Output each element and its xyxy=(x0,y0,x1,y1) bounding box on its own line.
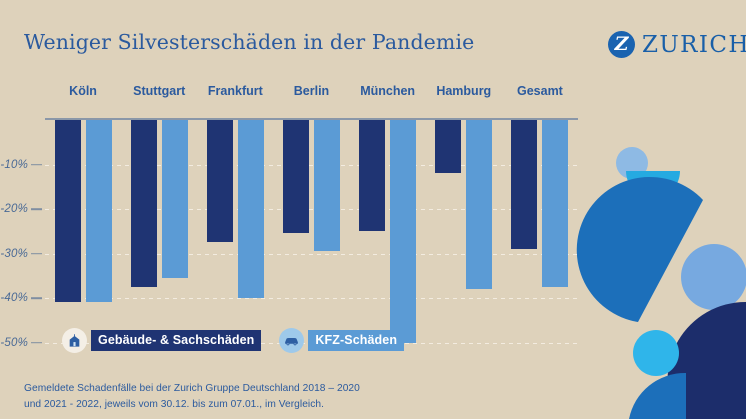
page-title: Weniger Silvesterschäden in der Pandemie xyxy=(24,30,474,54)
bar-köln-gebaeude xyxy=(55,120,81,302)
bar-berlin-gebaeude xyxy=(283,120,309,233)
gridline xyxy=(45,209,578,210)
chart-legend: Gebäude- & Sachschäden KFZ-Schäden xyxy=(62,328,404,353)
y-tick-dash xyxy=(31,164,42,166)
category-label-stuttgart: Stuttgart xyxy=(121,84,197,98)
footnote-line-1: Gemeldete Schadenfälle bei der Zurich Gr… xyxy=(24,381,494,397)
bar-chart: KölnStuttgartFrankfurtBerlinMünchenHambu… xyxy=(0,84,600,354)
bar-hamburg-gebaeude xyxy=(435,120,461,173)
category-label-hamburg: Hamburg xyxy=(426,84,502,98)
gridline xyxy=(45,165,578,166)
bar-stuttgart-gebaeude xyxy=(131,120,157,287)
zurich-z-letter: Z xyxy=(608,31,635,58)
legend-label-gebaeude: Gebäude- & Sachschäden xyxy=(91,330,261,351)
zero-axis-line xyxy=(45,118,578,120)
y-axis-tick-label: -10% xyxy=(0,159,28,171)
legend-item-gebaeude: Gebäude- & Sachschäden xyxy=(62,328,261,353)
bar-stuttgart-kfz xyxy=(162,120,188,278)
deco-quarterdisc-blue xyxy=(629,373,686,419)
category-label-münchen: München xyxy=(350,84,426,98)
bar-münchen-kfz xyxy=(390,120,416,343)
y-axis-tick-label: -40% xyxy=(0,292,28,304)
bar-münchen-gebaeude xyxy=(359,120,385,231)
footnote-line-2: und 2021 - 2022, jeweils vom 30.12. bis … xyxy=(24,397,494,413)
y-axis-tick-label: -20% xyxy=(0,203,28,215)
bar-hamburg-kfz xyxy=(466,120,492,289)
zurich-logo: Z ZURICH® xyxy=(608,31,746,58)
zurich-z-mark-icon: Z xyxy=(608,31,635,58)
gridline xyxy=(45,254,578,255)
bar-gesamt-kfz xyxy=(542,120,568,287)
category-label-gesamt: Gesamt xyxy=(502,84,578,98)
y-tick-dash xyxy=(31,253,42,255)
bar-frankfurt-gebaeude xyxy=(207,120,233,242)
y-tick-dash xyxy=(31,208,42,210)
y-tick-dash xyxy=(31,297,42,299)
deco-halfdisc-cyan xyxy=(626,171,680,198)
category-label-berlin: Berlin xyxy=(273,84,349,98)
gridline xyxy=(45,298,578,299)
house-icon xyxy=(62,328,87,353)
y-axis-tick-label: -50% xyxy=(0,337,28,349)
y-axis-tick-label: -30% xyxy=(0,248,28,260)
category-label-köln: Köln xyxy=(45,84,121,98)
category-label-frankfurt: Frankfurt xyxy=(197,84,273,98)
deco-halfdisc-navy xyxy=(668,302,746,419)
bar-berlin-kfz xyxy=(314,120,340,251)
zurich-wordmark: ZURICH® xyxy=(642,32,746,58)
category-axis-labels: KölnStuttgartFrankfurtBerlinMünchenHambu… xyxy=(0,84,600,106)
footnote: Gemeldete Schadenfälle bei der Zurich Gr… xyxy=(24,381,494,412)
plot-area: -10%-20%-30%-40%-50% xyxy=(0,118,600,350)
deco-circle-pale-top xyxy=(616,147,648,179)
bar-köln-kfz xyxy=(86,120,112,302)
legend-item-kfz: KFZ-Schäden xyxy=(279,328,404,353)
bar-gesamt-gebaeude xyxy=(511,120,537,249)
bar-frankfurt-kfz xyxy=(238,120,264,298)
y-tick-dash xyxy=(31,342,42,344)
car-icon xyxy=(279,328,304,353)
legend-label-kfz: KFZ-Schäden xyxy=(308,330,404,351)
zurich-wordmark-text: ZURICH xyxy=(642,32,746,58)
deco-circle-lightblue xyxy=(681,244,746,310)
deco-circle-cyan-small xyxy=(633,330,679,376)
infographic-root: Weniger Silvesterschäden in der Pandemie… xyxy=(0,0,746,419)
